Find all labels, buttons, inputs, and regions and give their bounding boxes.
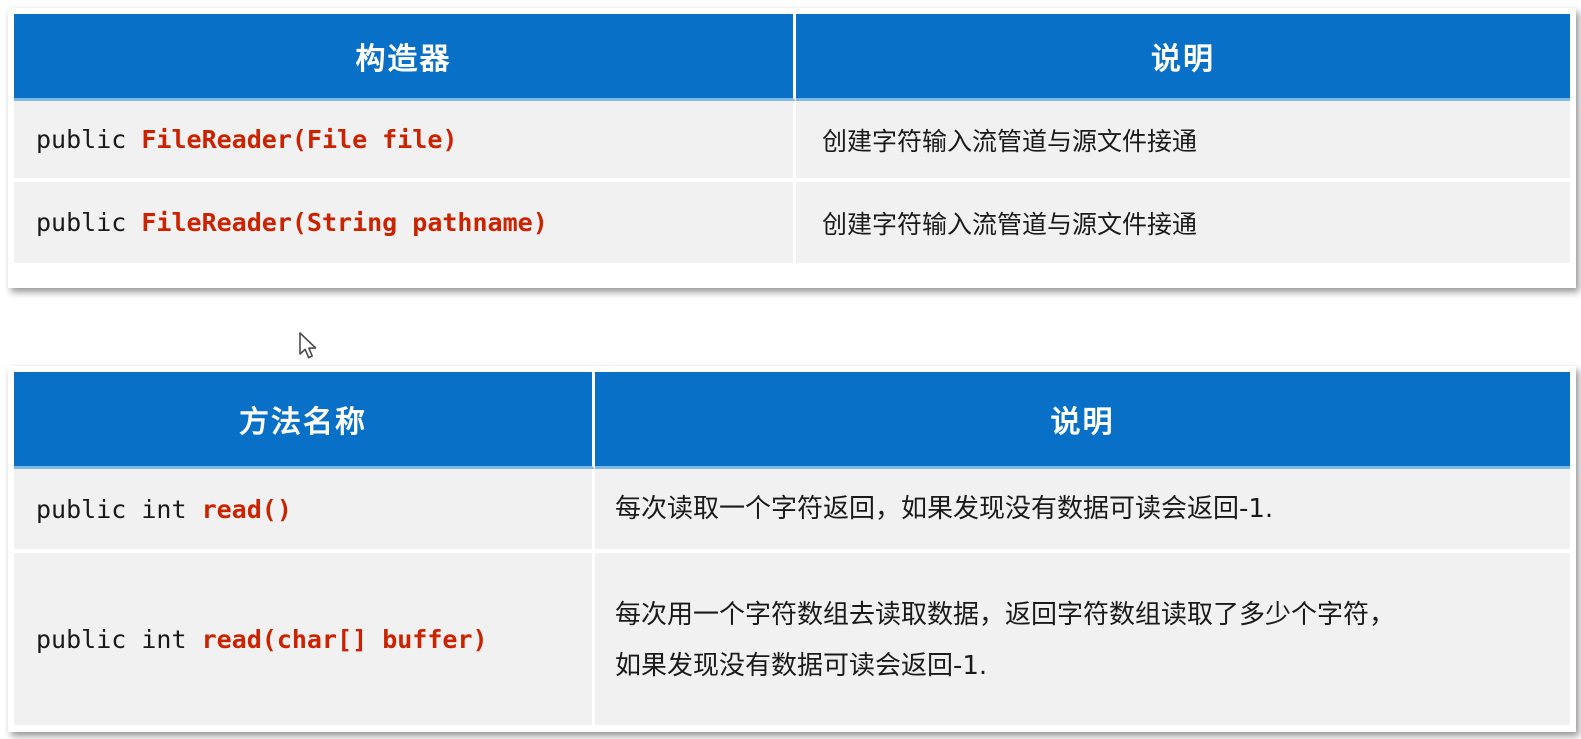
table-header-row: 方法名称 说明: [14, 372, 1570, 469]
description-line: 如果发现没有数据可读会返回-1.: [615, 641, 1558, 692]
constructor-signature-cell: public FileReader(File file): [14, 101, 796, 182]
method-description-cell: 每次读取一个字符返回，如果发现没有数据可读会返回-1.: [595, 469, 1570, 553]
methods-table: 方法名称 说明 public int read() 每次读取一个字符返回，如果发…: [8, 366, 1576, 732]
arrow-pointer-cursor: [298, 332, 320, 362]
table-row: public FileReader(String pathname) 创建字符输…: [14, 182, 1570, 263]
constructor-signature-cell: public FileReader(String pathname): [14, 182, 796, 263]
method-description-cell: 每次用一个字符数组去读取数据，返回字符数组读取了多少个字符，如果发现没有数据可读…: [595, 553, 1570, 725]
signature-highlight: FileReader(File file): [141, 125, 457, 154]
signature-prefix: public: [36, 208, 141, 237]
constructors-table-grid: 构造器 说明 public FileReader(File file) 创建字符…: [14, 14, 1570, 263]
table-row: public int read(char[] buffer) 每次用一个字符数组…: [14, 553, 1570, 725]
signature-highlight: FileReader(String pathname): [141, 208, 547, 237]
description-line: 每次读取一个字符返回，如果发现没有数据可读会返回-1.: [615, 484, 1558, 535]
signature-highlight: read(char[] buffer): [202, 625, 488, 654]
signature-prefix: public: [36, 125, 141, 154]
signature-highlight: read(): [202, 495, 292, 524]
methods-table-grid: 方法名称 说明 public int read() 每次读取一个字符返回，如果发…: [14, 372, 1570, 725]
description-line: 每次用一个字符数组去读取数据，返回字符数组读取了多少个字符，: [615, 590, 1558, 641]
constructors-table: 构造器 说明 public FileReader(File file) 创建字符…: [8, 8, 1576, 288]
method-signature-cell: public int read(): [14, 469, 595, 553]
table-header-row: 构造器 说明: [14, 14, 1570, 101]
signature-prefix: public int: [36, 495, 202, 524]
column-header-description: 说明: [796, 14, 1570, 101]
column-header-constructor: 构造器: [14, 14, 796, 101]
table-row: public int read() 每次读取一个字符返回，如果发现没有数据可读会…: [14, 469, 1570, 553]
table-row: public FileReader(File file) 创建字符输入流管道与源…: [14, 101, 1570, 182]
column-header-description: 说明: [595, 372, 1570, 469]
method-signature-cell: public int read(char[] buffer): [14, 553, 595, 725]
constructor-description-cell: 创建字符输入流管道与源文件接通: [796, 182, 1570, 263]
constructor-description-cell: 创建字符输入流管道与源文件接通: [796, 101, 1570, 182]
signature-prefix: public int: [36, 625, 202, 654]
column-header-method-name: 方法名称: [14, 372, 595, 469]
